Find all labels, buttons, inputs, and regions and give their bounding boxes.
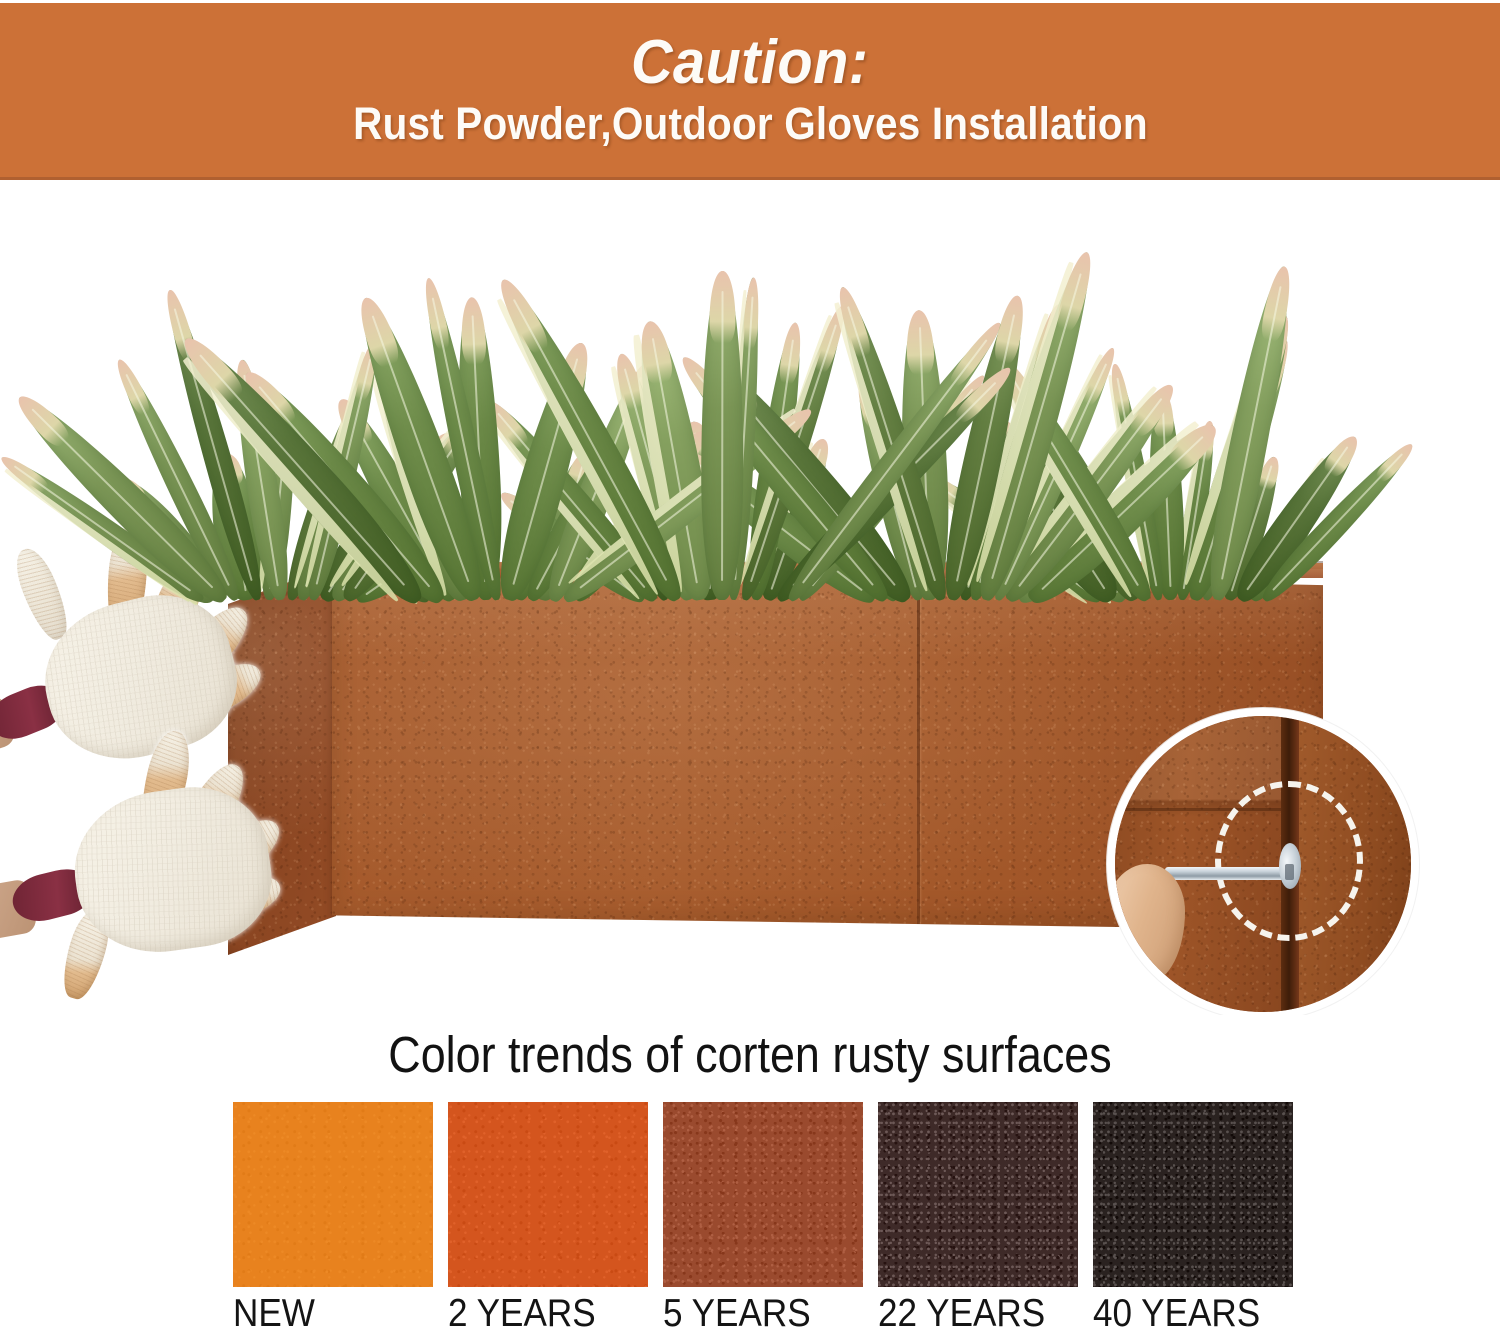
- swatch-label: 5 YEARS: [663, 1292, 811, 1336]
- swatch-grain-texture: [448, 1102, 648, 1287]
- work-glove: [0, 590, 410, 1000]
- color-swatch: [1093, 1102, 1293, 1287]
- swatch-grain-texture: [1093, 1102, 1293, 1287]
- product-photo: [0, 180, 1500, 1015]
- leaf-tip-blush: [12, 389, 74, 450]
- swatch-label: 40 YEARS: [1093, 1292, 1260, 1336]
- swatch-cell: NEW: [233, 1102, 433, 1287]
- leaf-tip-blush: [1374, 440, 1417, 484]
- work-gloves-pair: [0, 590, 410, 1000]
- swatch-label: 22 YEARS: [878, 1292, 1045, 1336]
- leaf-tip-blush: [1258, 265, 1295, 343]
- color-swatch: [663, 1102, 863, 1287]
- caution-title: Caution:: [631, 32, 869, 94]
- leaf-tip-blush: [0, 452, 50, 496]
- color-trend-section: Color trends of corten rusty surfaces NE…: [0, 1015, 1500, 1343]
- color-swatch: [448, 1102, 648, 1287]
- plant-group: [150, 200, 1370, 600]
- swatch-label: NEW: [233, 1292, 315, 1336]
- caution-banner: Caution: Rust Powder,Outdoor Gloves Inst…: [0, 3, 1500, 180]
- planter-panel-seam: [917, 577, 920, 924]
- swatch-grain-texture: [878, 1102, 1078, 1287]
- swatch-cell: 40 YEARS: [1093, 1102, 1293, 1287]
- swatch-cell: 5 YEARS: [663, 1102, 863, 1287]
- screw-installation-closeup: [1107, 708, 1419, 1015]
- color-swatch: [233, 1102, 433, 1287]
- swatch-grain-texture: [233, 1102, 433, 1287]
- color-swatch-row: NEW2 YEARS5 YEARS22 YEARS40 YEARS: [233, 1102, 1267, 1287]
- swatch-cell: 22 YEARS: [878, 1102, 1078, 1287]
- leaf-tip-blush: [906, 310, 935, 375]
- leaf-tip-blush: [112, 356, 152, 416]
- leaf-tip-blush: [710, 271, 736, 343]
- swatch-cell: 2 YEARS: [448, 1102, 648, 1287]
- leaf-tip-blush: [1322, 431, 1364, 479]
- color-swatch: [878, 1102, 1078, 1287]
- leaf-tip-blush: [636, 319, 675, 385]
- swatch-grain-texture: [663, 1102, 863, 1287]
- leaf-tip-blush: [833, 285, 873, 360]
- leaf-tip-blush: [421, 276, 452, 350]
- screw-slot-icon: [1285, 864, 1294, 880]
- plant-leaf: [701, 271, 744, 600]
- plant: [600, 215, 855, 600]
- leaf-tip-blush: [778, 322, 805, 385]
- infographic-page: Caution: Rust Powder,Outdoor Gloves Inst…: [0, 0, 1500, 1343]
- color-trend-heading: Color trends of corten rusty surfaces: [90, 1025, 1410, 1084]
- swatch-label: 2 YEARS: [448, 1292, 596, 1336]
- leaf-tip-blush: [460, 297, 487, 365]
- leaf-tip-blush: [742, 277, 760, 349]
- leaf-tip-blush: [1108, 363, 1131, 417]
- screw-shaft-icon: [1165, 867, 1291, 880]
- caution-subtitle: Rust Powder,Outdoor Gloves Installation: [353, 100, 1148, 147]
